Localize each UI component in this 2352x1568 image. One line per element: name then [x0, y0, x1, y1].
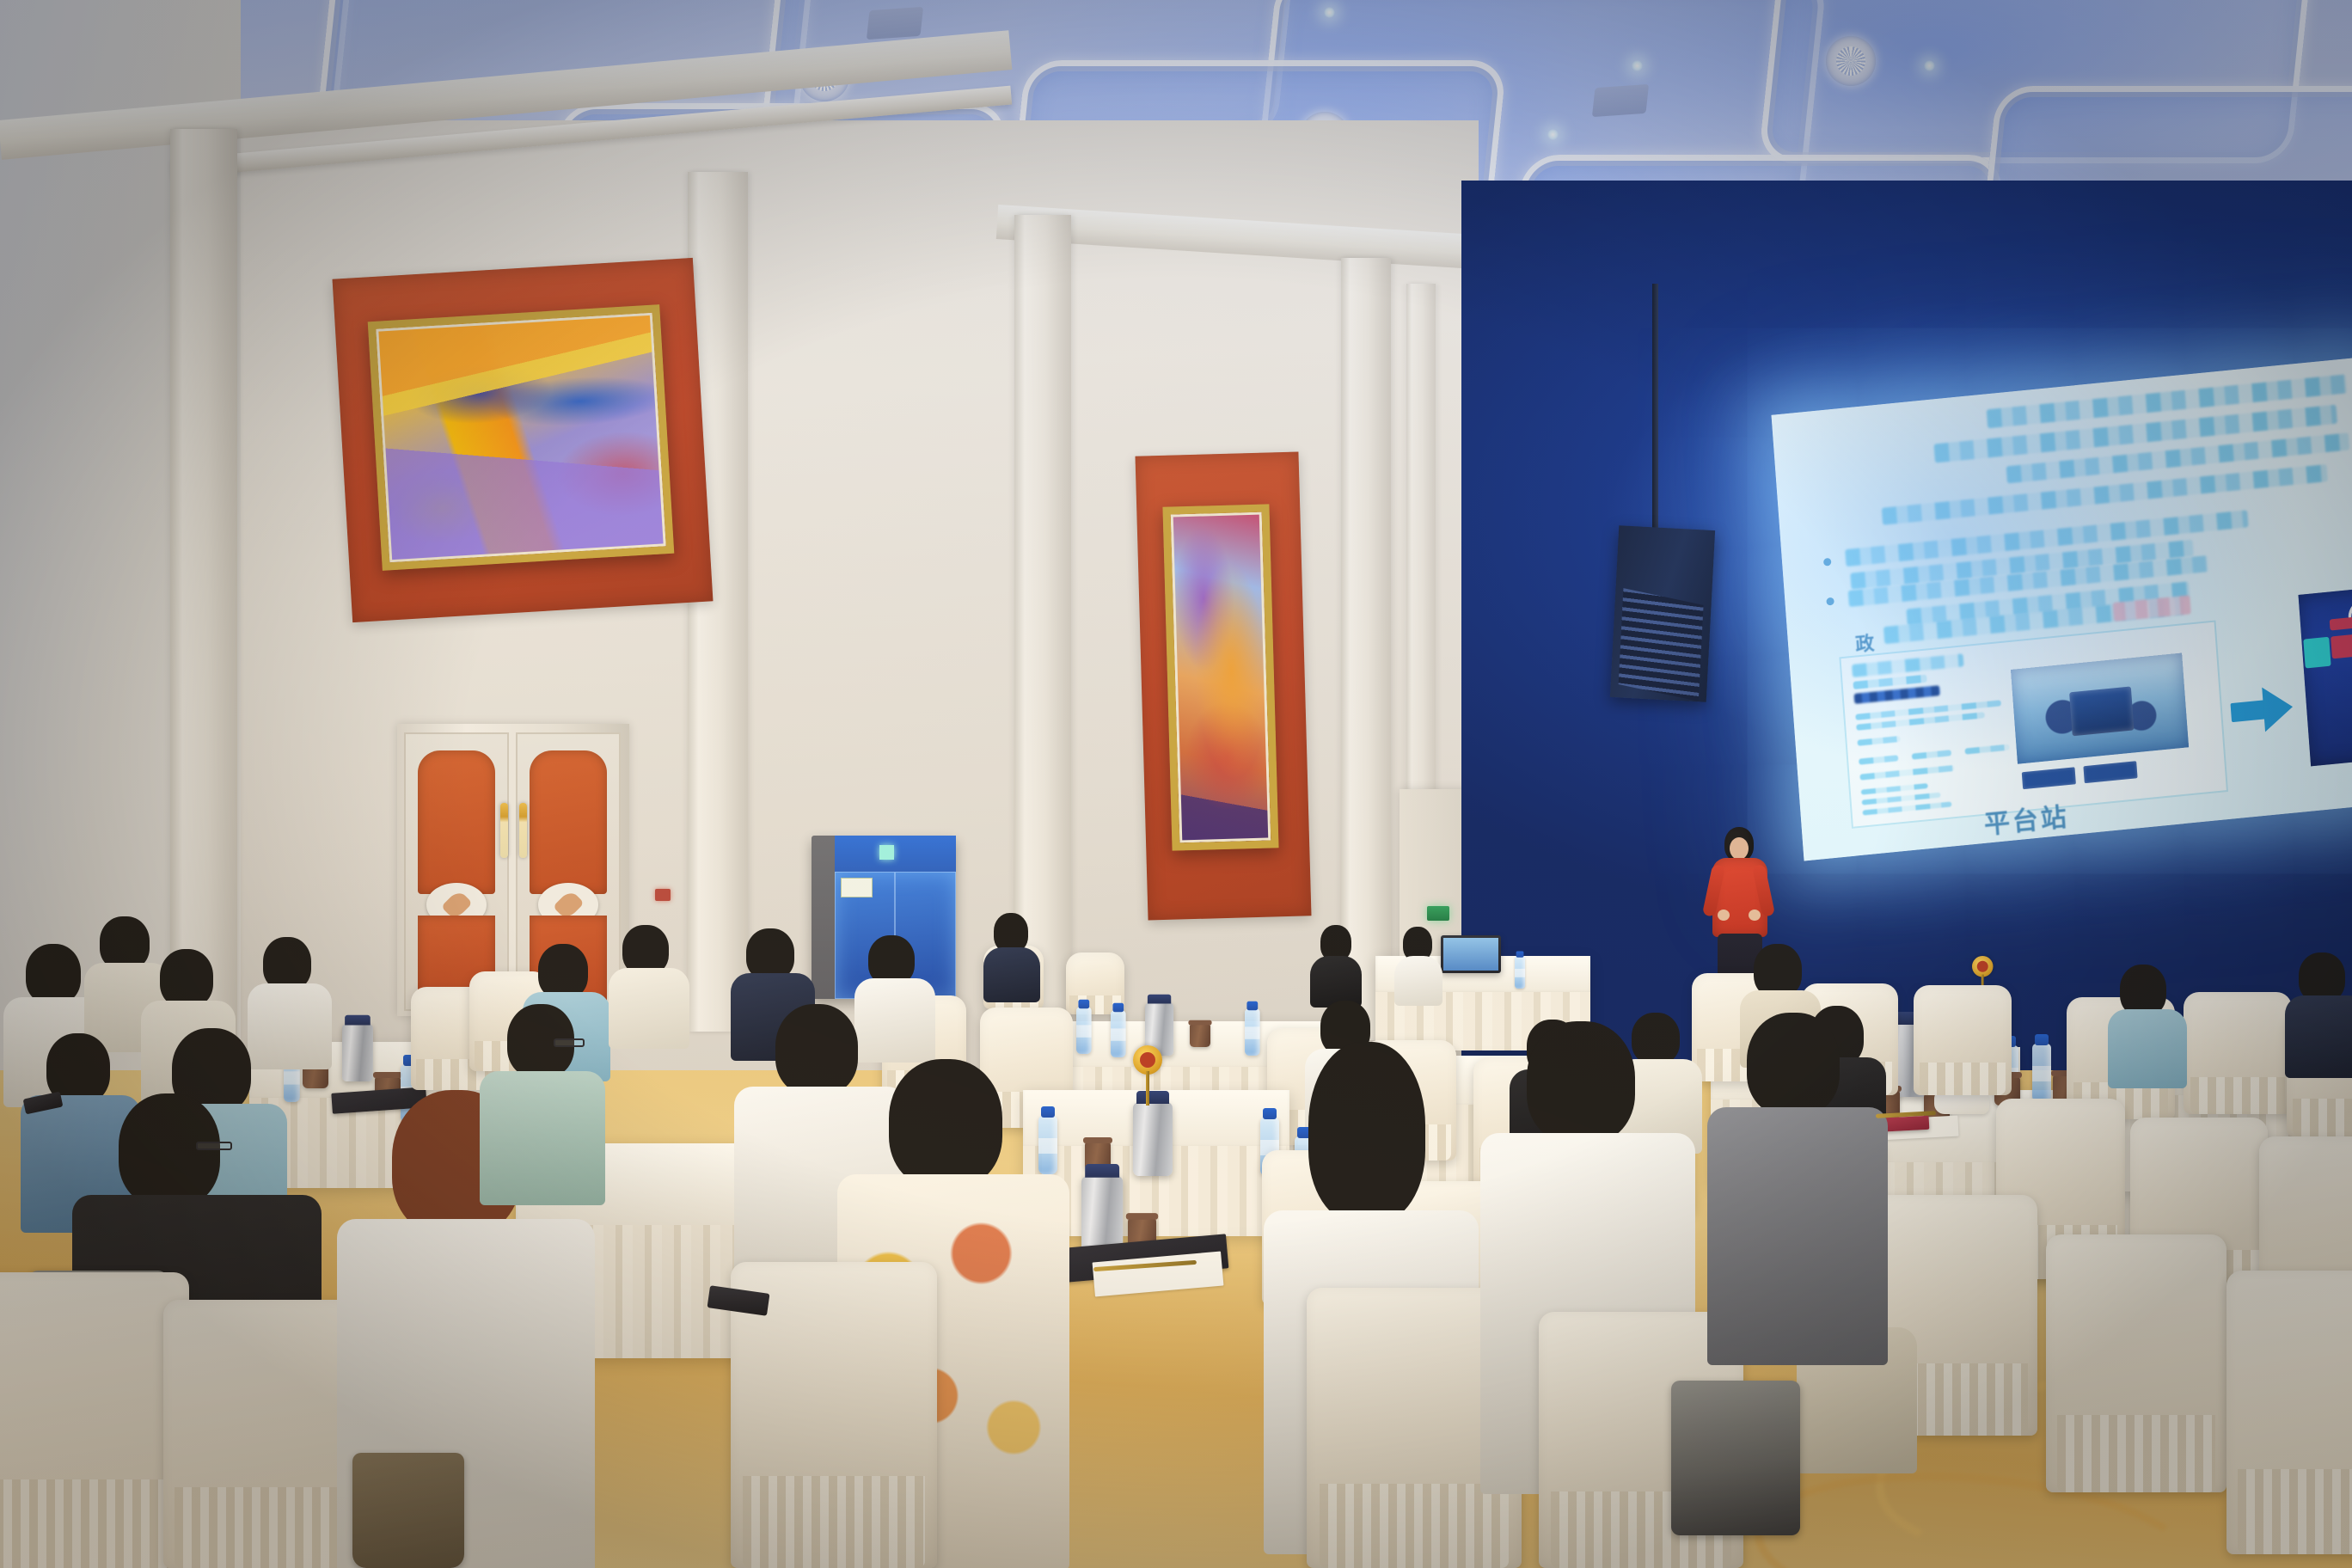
presenter-hand [1749, 910, 1761, 921]
exit-sign [1427, 906, 1449, 921]
slide-bullet-marker [1826, 597, 1834, 606]
slide-mobile-screenshot [2298, 585, 2352, 767]
door-panel [530, 750, 607, 893]
slide-action-button[interactable] [2022, 767, 2076, 789]
tea-cup [1190, 1024, 1210, 1047]
chair [2046, 1234, 2226, 1492]
water-bottle [1076, 1008, 1092, 1054]
chair [2226, 1271, 2352, 1554]
slide-screenshot-card [1839, 620, 2228, 828]
wall-pilaster [1014, 215, 1071, 1040]
chair [0, 1272, 189, 1568]
door-panel [418, 750, 495, 893]
chair [1914, 985, 2012, 1095]
speaker-mount-pole [1652, 284, 1658, 542]
ceiling-downlight [1924, 60, 1935, 71]
ceiling-downlight [1632, 60, 1643, 71]
ceiling-air-vent [867, 7, 923, 40]
fridge-header-panel [835, 836, 956, 872]
abstract-landscape-painting [368, 304, 675, 571]
door-handle[interactable] [519, 803, 527, 858]
slide-footer-label: 平台站 [1982, 795, 2070, 842]
water-bottle [1111, 1011, 1126, 1057]
slide-badge [2303, 637, 2331, 669]
abstract-vertical-painting [1162, 504, 1278, 850]
slide-bullet-marker [1823, 558, 1832, 567]
slide-subhead: 政 [1854, 628, 1877, 657]
vacuum-thermos [342, 1024, 373, 1081]
ceiling-rosette-medallion [1826, 36, 1876, 86]
slide-action-button[interactable] [2083, 761, 2137, 783]
conference-hall-photo: 政 [0, 0, 2352, 1568]
ceiling-downlight [1324, 7, 1335, 18]
ceiling-downlight [1547, 129, 1559, 140]
slide-flow-arrow [2231, 700, 2266, 722]
handbag [352, 1453, 464, 1568]
speaker-grille [1619, 588, 1704, 701]
door-leaf-left[interactable] [404, 732, 509, 1011]
eyeglasses [196, 1142, 232, 1150]
vacuum-thermos [1133, 1102, 1173, 1176]
slide-photo-thumbnail [2011, 652, 2189, 763]
slide-badge [2330, 616, 2352, 630]
vacuum-thermos [1081, 1176, 1123, 1253]
presenter-hand [1718, 910, 1730, 921]
presenter-face [1730, 837, 1749, 860]
ceiling-air-vent [1592, 84, 1649, 117]
water-bottle [1245, 1009, 1260, 1056]
water-bottle [1038, 1116, 1057, 1174]
line-array-loudspeaker [1610, 525, 1715, 702]
slide-badge [2331, 630, 2352, 658]
chair [163, 1300, 352, 1568]
water-bottle [1515, 957, 1525, 989]
fridge-warning-label [841, 878, 873, 897]
wall-pilaster [170, 129, 237, 1040]
water-bottle [2032, 1044, 2051, 1102]
slide-flow-arrow-head [2262, 684, 2294, 732]
projection-screen: 政 [1772, 357, 2352, 861]
wall-pilaster [1341, 258, 1391, 1040]
fridge-display-led [879, 845, 894, 860]
backpack [1671, 1381, 1800, 1535]
eyeglasses [554, 1038, 585, 1047]
emergency-call-point [655, 889, 671, 901]
laptop[interactable] [1441, 935, 1501, 973]
chair [2184, 992, 2292, 1114]
door-handle[interactable] [500, 803, 508, 858]
